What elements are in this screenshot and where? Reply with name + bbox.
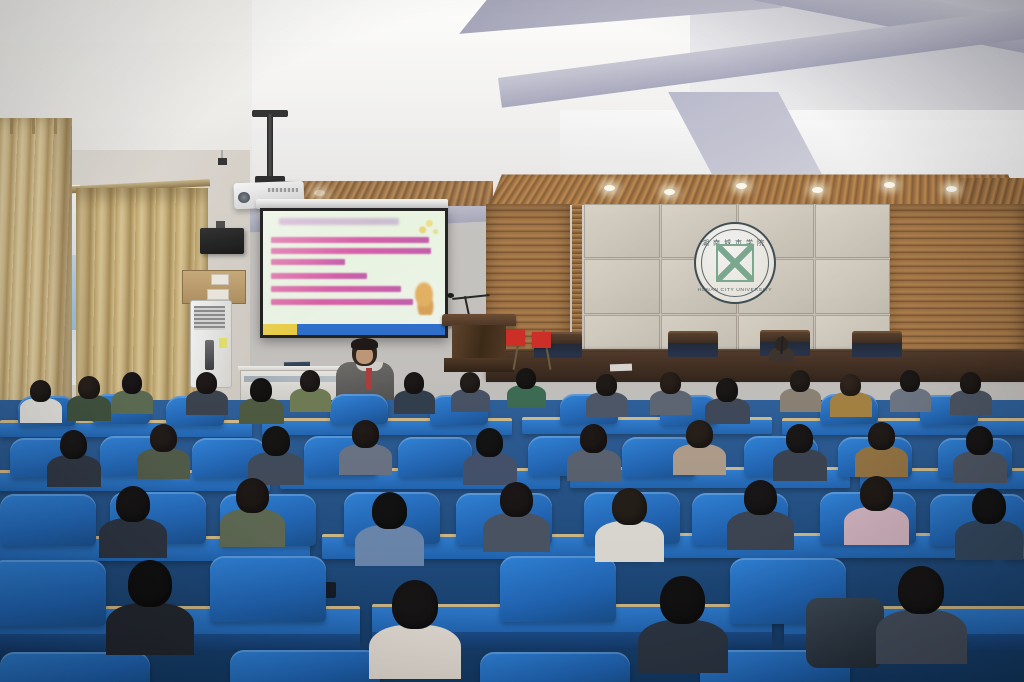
audience-member-head xyxy=(128,560,172,607)
audience-member-shoulders xyxy=(673,444,726,475)
audience-member-head xyxy=(78,376,100,399)
audience-member-shoulders xyxy=(339,444,392,475)
audience-member-head xyxy=(596,374,617,396)
audience-member-head xyxy=(900,370,920,392)
audience-member-shoulders xyxy=(463,453,517,485)
student-chair xyxy=(230,650,380,682)
screen-glare xyxy=(263,211,445,335)
wall-panel xyxy=(584,204,660,258)
window-curtain xyxy=(0,118,72,418)
panel-chair xyxy=(668,331,718,357)
lectern-body xyxy=(452,325,506,361)
student-chair xyxy=(330,394,388,424)
audience-member-shoulders xyxy=(953,451,1007,483)
student-chair xyxy=(398,437,472,477)
audience-member-shoulders xyxy=(483,513,550,552)
backpack xyxy=(806,598,884,668)
audience-member-head xyxy=(860,476,893,511)
presenter-tie xyxy=(366,368,372,390)
student-chair xyxy=(0,560,106,626)
audience-member-shoulders xyxy=(773,449,827,481)
ac-control-panel[interactable] xyxy=(205,340,214,370)
audience-member-head xyxy=(500,482,533,517)
audience-member-head xyxy=(686,420,713,448)
ceiling-downlight xyxy=(604,185,615,191)
audience-member-head xyxy=(236,478,269,513)
audience-member-head xyxy=(744,480,777,515)
presenter-hair xyxy=(351,338,378,350)
audience-member-head xyxy=(966,426,993,455)
wall-sensor-icon xyxy=(218,158,227,165)
audience-member-shoulders xyxy=(220,509,285,547)
audience-member-shoulders xyxy=(595,521,664,562)
wall-speaker xyxy=(200,228,244,254)
lectern-mic-arm xyxy=(452,294,490,300)
audience-member-head xyxy=(868,422,895,450)
audience-member-head xyxy=(476,428,503,457)
ceiling-downlight xyxy=(946,186,957,192)
audience-member-head xyxy=(196,372,217,394)
ceiling-downlight xyxy=(812,187,823,193)
university-emblem: 湖南城市学院 HUNAN CITY UNIVERSITY xyxy=(694,222,776,304)
student-chair xyxy=(0,652,150,682)
wall-panel xyxy=(815,204,890,258)
student-chair xyxy=(210,556,326,622)
curtain-rings xyxy=(2,118,70,134)
audience-member-head xyxy=(840,374,861,396)
audience-member-shoulders xyxy=(355,525,424,566)
ceiling-downlight xyxy=(664,189,675,195)
papers-on-table xyxy=(610,364,632,372)
box-label xyxy=(211,274,229,285)
lectern-microphone-icon xyxy=(447,293,454,298)
audience-member-head xyxy=(660,372,681,394)
wall-panel xyxy=(584,259,660,314)
audience-member-head xyxy=(392,580,438,629)
projector-pole xyxy=(267,114,273,180)
audience-member-shoulders xyxy=(99,518,167,558)
audience-member-shoulders xyxy=(727,511,794,550)
audience-member-head xyxy=(972,488,1006,524)
student-chair xyxy=(500,556,616,622)
audience-member-shoulders xyxy=(638,620,728,673)
student-chair xyxy=(0,494,96,546)
audience-member-head xyxy=(404,372,424,394)
audience-member-head xyxy=(300,370,320,392)
student-chair xyxy=(480,652,630,682)
red-flag xyxy=(506,330,525,346)
wall-panel xyxy=(815,259,890,314)
audience-member-head xyxy=(250,378,272,402)
red-flag xyxy=(532,332,551,348)
audience-member-head xyxy=(612,488,647,525)
audience-member-head xyxy=(372,492,407,529)
audience-member-head xyxy=(150,424,177,452)
lectern-mic-stem xyxy=(464,296,470,316)
audience-member-shoulders xyxy=(567,449,621,481)
projection-screen xyxy=(263,211,445,335)
audience-member-shoulders xyxy=(137,448,190,479)
audience-member-shoulders xyxy=(855,446,908,477)
ceiling-downlight xyxy=(884,182,895,188)
sensor-stem xyxy=(221,150,223,158)
audience-member-head xyxy=(460,372,480,393)
audience-member-head xyxy=(960,372,981,394)
ceiling-downlight xyxy=(314,190,325,196)
audience-member-shoulders xyxy=(955,520,1023,560)
audience-member-head xyxy=(30,380,51,402)
audience-member-head xyxy=(116,486,150,522)
audience-member-head xyxy=(352,420,379,448)
emblem-mark-icon xyxy=(716,244,754,282)
lectern-base xyxy=(444,358,514,372)
audience-member-head xyxy=(580,424,607,453)
projector-vent xyxy=(268,188,298,192)
audience-member-head xyxy=(262,426,290,456)
panel-chair xyxy=(852,331,902,357)
audience-member-shoulders xyxy=(47,455,101,487)
audience-member-head xyxy=(660,576,705,624)
audience-member-head xyxy=(790,370,810,392)
lecture-hall-photo: 湖南城市学院 HUNAN CITY UNIVERSITY xyxy=(0,0,1024,682)
projector-lens-icon xyxy=(238,192,250,203)
ceiling-downlight xyxy=(736,183,747,189)
audience-member-shoulders xyxy=(844,507,909,545)
audience-member-head xyxy=(516,368,536,389)
audience-member-head xyxy=(786,424,813,453)
audience-member-shoulders xyxy=(369,625,461,679)
box-label xyxy=(207,289,229,300)
audience-member-head xyxy=(716,378,738,402)
ac-sticker xyxy=(219,338,227,348)
audience-member-head xyxy=(122,372,142,394)
audience-member-head xyxy=(60,430,87,459)
cardboard-boxes xyxy=(182,270,246,304)
audience-member-shoulders xyxy=(876,610,967,664)
audience-member-head xyxy=(898,566,944,614)
audience-member-shoulders xyxy=(106,603,194,655)
emblem-english-text: HUNAN CITY UNIVERSITY xyxy=(696,287,774,292)
ac-vent-icon xyxy=(194,306,225,330)
